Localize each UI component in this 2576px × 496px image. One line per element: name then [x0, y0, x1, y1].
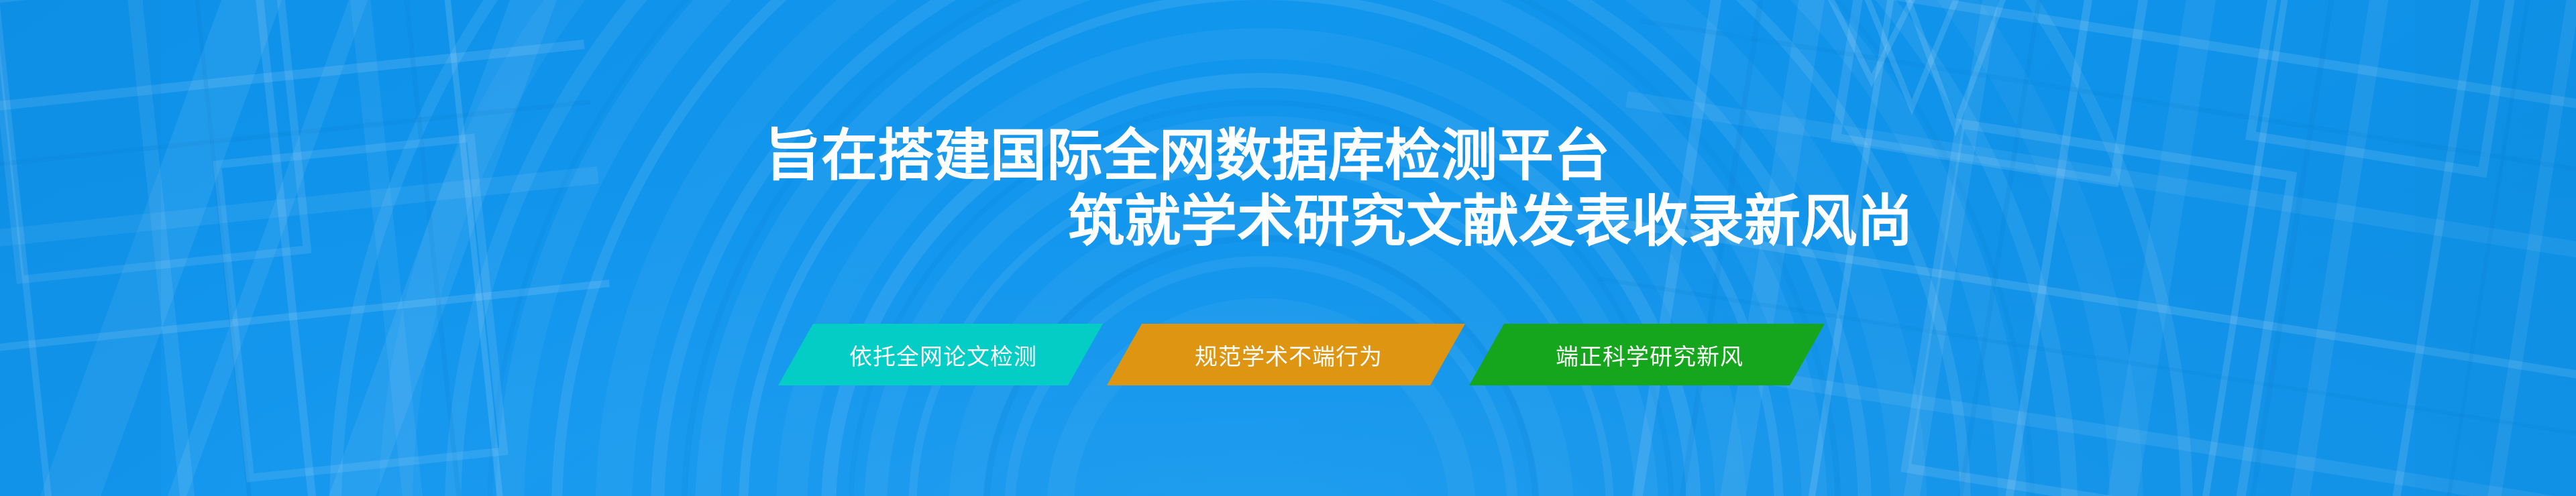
background-graphic [0, 0, 2576, 496]
feature-tag-misconduct[interactable]: 规范学术不端行为 [1107, 324, 1465, 385]
feature-tag-detection-label: 依托全网论文检测 [849, 338, 1037, 371]
feature-tag-row: 依托全网论文检测 规范学术不端行为 端正科学研究新风 [778, 324, 1825, 385]
feature-tag-misconduct-label: 规范学术不端行为 [1195, 338, 1383, 371]
feature-tag-integrity[interactable]: 端正科学研究新风 [1469, 324, 1825, 385]
feature-tag-detection[interactable]: 依托全网论文检测 [778, 324, 1103, 385]
promo-banner: 旨在搭建国际全网数据库检测平台 筑就学术研究文献发表收录新风尚 依托全网论文检测… [0, 0, 2576, 496]
feature-tag-integrity-label: 端正科学研究新风 [1556, 338, 1743, 371]
